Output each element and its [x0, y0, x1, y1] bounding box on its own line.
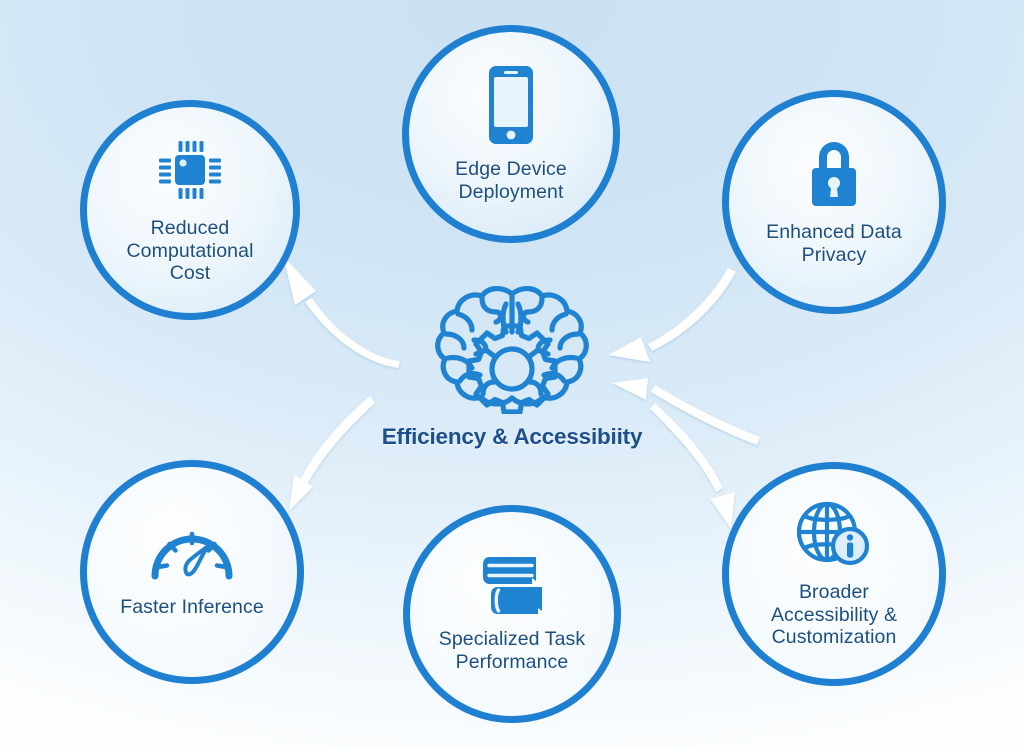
node-accessibility[interactable]: Broader Accessibility & Customization [722, 462, 946, 686]
center-title: Efficiency & Accessibiity [382, 424, 643, 450]
node-label: Specialized Task Performance [439, 628, 586, 673]
padlock-icon [803, 137, 865, 209]
node-edge-device[interactable]: Edge Device Deployment [402, 25, 620, 243]
node-label: Broader Accessibility & Customization [771, 581, 897, 649]
node-label: Edge Device Deployment [455, 158, 567, 203]
cpu-chip-icon [153, 135, 227, 207]
brain-gear-icon [430, 282, 594, 414]
node-label: Reduced Computational Cost [126, 217, 253, 285]
speedometer-icon [149, 526, 235, 582]
node-ring [722, 462, 946, 686]
node-label: Faster Inference [120, 596, 264, 619]
node-reduced-cost[interactable]: Reduced Computational Cost [80, 100, 300, 320]
center-hub: Efficiency & Accessibiity [330, 282, 694, 478]
books-icon [474, 554, 550, 616]
node-label: Enhanced Data Privacy [766, 221, 902, 266]
diagram-canvas: Reduced Computational Cost Edge Device D… [0, 0, 1024, 750]
node-task-performance[interactable]: Specialized Task Performance [403, 505, 621, 723]
node-faster-inference[interactable]: Faster Inference [80, 460, 304, 684]
smartphone-icon [485, 64, 537, 146]
node-ring [80, 100, 300, 320]
globe-info-icon [794, 499, 874, 571]
node-data-privacy[interactable]: Enhanced Data Privacy [722, 90, 946, 314]
